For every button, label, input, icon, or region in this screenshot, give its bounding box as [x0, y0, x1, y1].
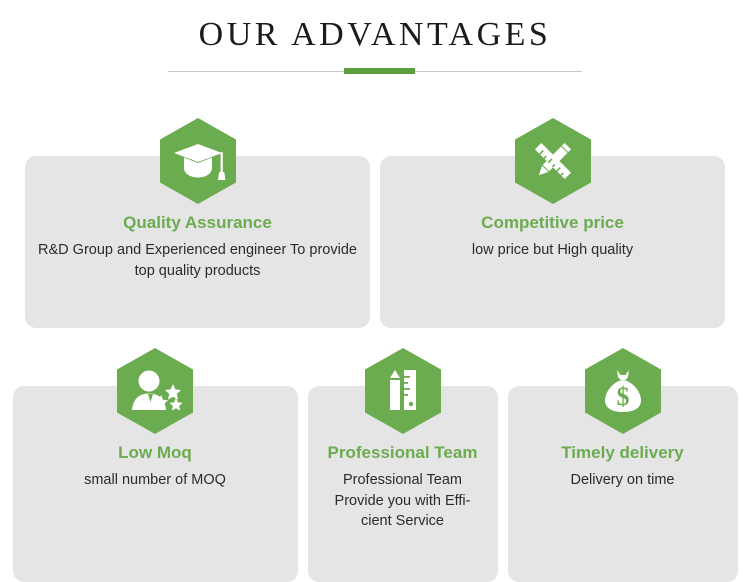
page-title: OUR ADVANTAGES [0, 16, 750, 54]
card-title: Timely delivery [520, 442, 726, 463]
advantage-card-timely-delivery[interactable]: $ Timely delivery Delivery on time [508, 386, 738, 582]
card-description: Professional Team Provide you with Effi-… [320, 470, 486, 532]
svg-text:$: $ [616, 382, 629, 411]
card-description: small number of MOQ [25, 470, 286, 491]
advantages-page: OUR ADVANTAGES Quality Assurance R&D Gro [0, 0, 750, 582]
card-description: R&D Group and Experienced engineer To pr… [37, 240, 358, 281]
advantage-card-quality-assurance[interactable]: Quality Assurance R&D Group and Experien… [25, 156, 370, 328]
pencil-ruler-cross-icon [515, 118, 591, 204]
card-title: Low Moq [25, 442, 286, 463]
card-title: Professional Team [320, 442, 486, 463]
card-title: Competitive price [392, 212, 713, 233]
money-bag-icon: $ [585, 348, 661, 434]
person-stars-icon [117, 348, 193, 434]
advantage-card-professional-team[interactable]: Professional Team Professional Team Prov… [308, 386, 498, 582]
advantages-row-top: Quality Assurance R&D Group and Experien… [0, 118, 750, 328]
card-description: low price but High quality [392, 240, 713, 261]
advantage-card-low-moq[interactable]: Low Moq small number of MOQ [13, 386, 298, 582]
advantages-row-bottom: Low Moq small number of MOQ [0, 348, 750, 582]
pencil-ruler-vertical-icon [365, 348, 441, 434]
advantage-card-competitive-price[interactable]: Competitive price low price but High qua… [380, 156, 725, 328]
card-title: Quality Assurance [37, 212, 358, 233]
graduation-cap-icon [160, 118, 236, 204]
title-divider-accent [344, 68, 415, 74]
page-header: OUR ADVANTAGES [0, 0, 750, 100]
card-description: Delivery on time [520, 470, 726, 491]
